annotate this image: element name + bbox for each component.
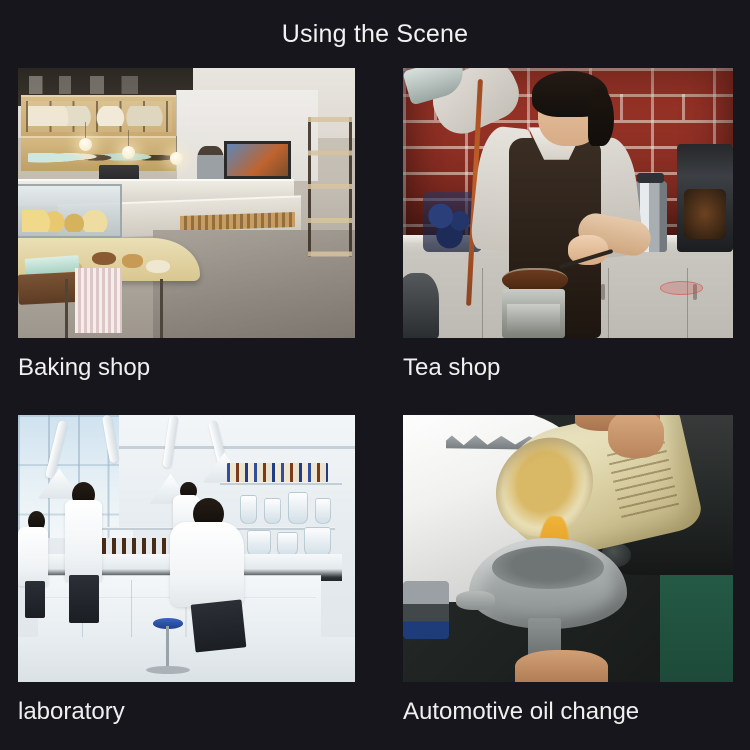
scene-card-tea-shop: Tea shop — [403, 68, 733, 381]
automotive-oil-change-photo — [403, 415, 733, 682]
scene-card-automotive-oil-change: Automotive oil change — [403, 415, 733, 725]
tea-shop-photo — [403, 68, 733, 338]
scene-caption-baking-shop: Baking shop — [18, 355, 355, 381]
scene-card-laboratory: laboratory — [18, 415, 355, 725]
scene-caption-automotive-oil-change: Automotive oil change — [403, 699, 733, 725]
scene-caption-tea-shop: Tea shop — [403, 355, 733, 381]
laboratory-photo — [18, 415, 355, 682]
page-title: Using the Scene — [0, 20, 750, 49]
scene-caption-laboratory: laboratory — [18, 699, 355, 725]
bakery-interior-photo — [18, 68, 355, 338]
scene-gallery-page: Using the Scene — [0, 0, 750, 750]
scene-card-baking-shop: Baking shop — [18, 68, 355, 381]
